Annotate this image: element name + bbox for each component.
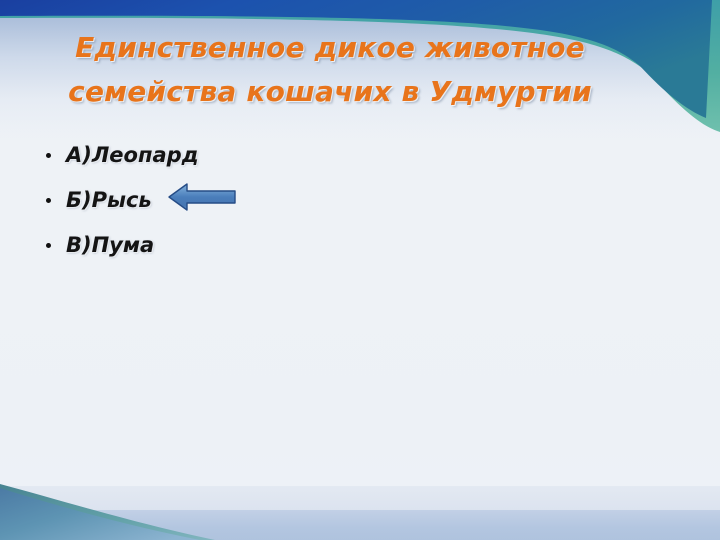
bullet-dot-icon (46, 243, 51, 248)
list-item-answer-a[interactable]: А)Леопард (38, 132, 458, 177)
bottom-left-wedge-decoration (0, 470, 260, 540)
list-item-answer-c[interactable]: В)Пума (38, 222, 458, 267)
answer-options-list: А)Леопард Б)Рысь В)Пума (38, 132, 458, 267)
answer-label-b: Б)Рысь (66, 188, 152, 212)
answer-label-a: А)Леопард (66, 143, 199, 167)
list-item-answer-b[interactable]: Б)Рысь (38, 177, 458, 222)
bullet-dot-icon (46, 198, 51, 203)
title-line-1: Единственное дикое животное (0, 26, 660, 70)
answer-label-c: В)Пума (66, 233, 154, 257)
title-line-2: семейства кошачих в Удмуртии (0, 70, 660, 114)
left-arrow-icon (166, 182, 238, 212)
bullet-dot-icon (46, 153, 51, 158)
slide-title: Единственное дикое животное семейства ко… (0, 26, 660, 114)
presentation-slide: Единственное дикое животное семейства ко… (0, 0, 720, 540)
